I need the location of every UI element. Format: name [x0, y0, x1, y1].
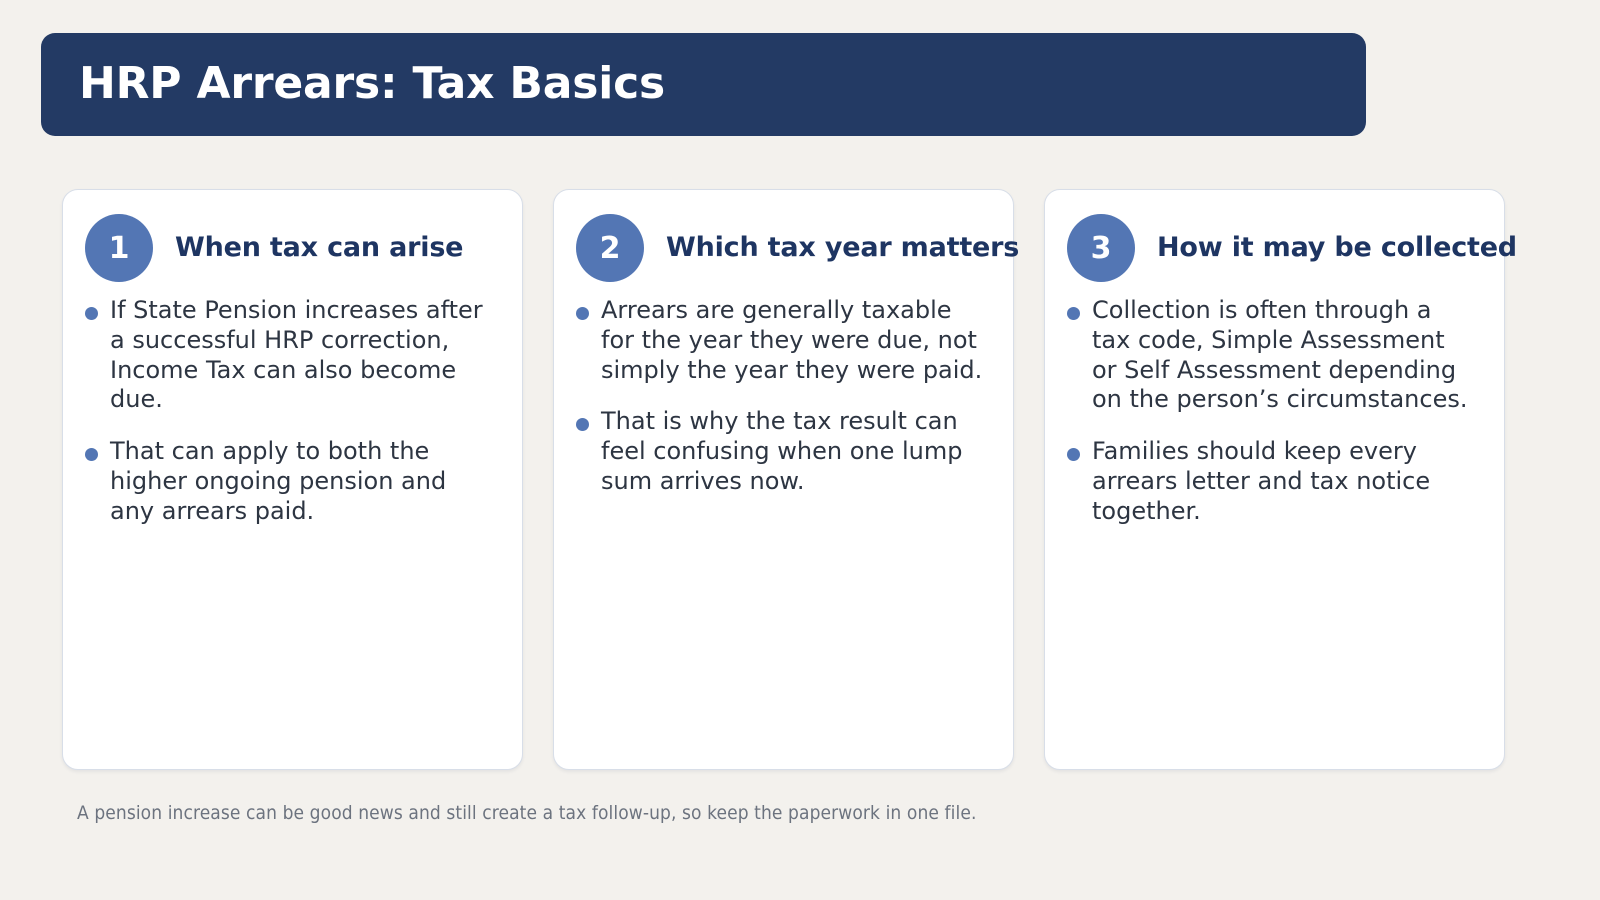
list-item: Families should keep every arrears lette… [1067, 437, 1482, 526]
bullet-text: That is why the tax result can feel conf… [601, 407, 983, 496]
bullet-text: Families should keep every arrears lette… [1092, 437, 1474, 526]
list-item: That is why the tax result can feel conf… [576, 407, 991, 496]
card-header: 2 Which tax year matters [576, 212, 991, 284]
bullet-list: Arrears are generally taxable for the ye… [576, 296, 991, 497]
card-title: Which tax year matters [666, 232, 1019, 263]
card-number-badge: 1 [85, 214, 153, 282]
bullet-dot-icon [85, 448, 98, 461]
card-header: 1 When tax can arise [85, 212, 500, 284]
card-title: How it may be collected [1157, 232, 1517, 263]
bullet-list: Collection is often through a tax code, … [1067, 296, 1482, 526]
bullet-list: If State Pension increases after a succe… [85, 296, 500, 526]
list-item: Arrears are generally taxable for the ye… [576, 296, 991, 385]
bullet-dot-icon [576, 418, 589, 431]
bullet-text: That can apply to both the higher ongoin… [110, 437, 492, 526]
list-item: Collection is often through a tax code, … [1067, 296, 1482, 415]
bullet-text: If State Pension increases after a succe… [110, 296, 492, 415]
header-banner: HRP Arrears: Tax Basics [41, 33, 1366, 136]
card-header: 3 How it may be collected [1067, 212, 1482, 284]
bullet-dot-icon [1067, 448, 1080, 461]
card-how-it-may-be-collected: 3 How it may be collected Collection is … [1044, 189, 1505, 770]
card-when-tax-can-arise: 1 When tax can arise If State Pension in… [62, 189, 523, 770]
bullet-dot-icon [85, 307, 98, 320]
list-item: If State Pension increases after a succe… [85, 296, 500, 415]
card-title: When tax can arise [175, 232, 463, 263]
list-item: That can apply to both the higher ongoin… [85, 437, 500, 526]
slide-root: HRP Arrears: Tax Basics 1 When tax can a… [0, 0, 1600, 900]
card-number-badge: 3 [1067, 214, 1135, 282]
cards-row: 1 When tax can arise If State Pension in… [62, 189, 1538, 770]
bullet-text: Collection is often through a tax code, … [1092, 296, 1474, 415]
bullet-dot-icon [1067, 307, 1080, 320]
card-which-tax-year-matters: 2 Which tax year matters Arrears are gen… [553, 189, 1014, 770]
bullet-dot-icon [576, 307, 589, 320]
page-title: HRP Arrears: Tax Basics [79, 61, 665, 107]
footer-note: A pension increase can be good news and … [77, 802, 976, 824]
bullet-text: Arrears are generally taxable for the ye… [601, 296, 983, 385]
card-number-badge: 2 [576, 214, 644, 282]
